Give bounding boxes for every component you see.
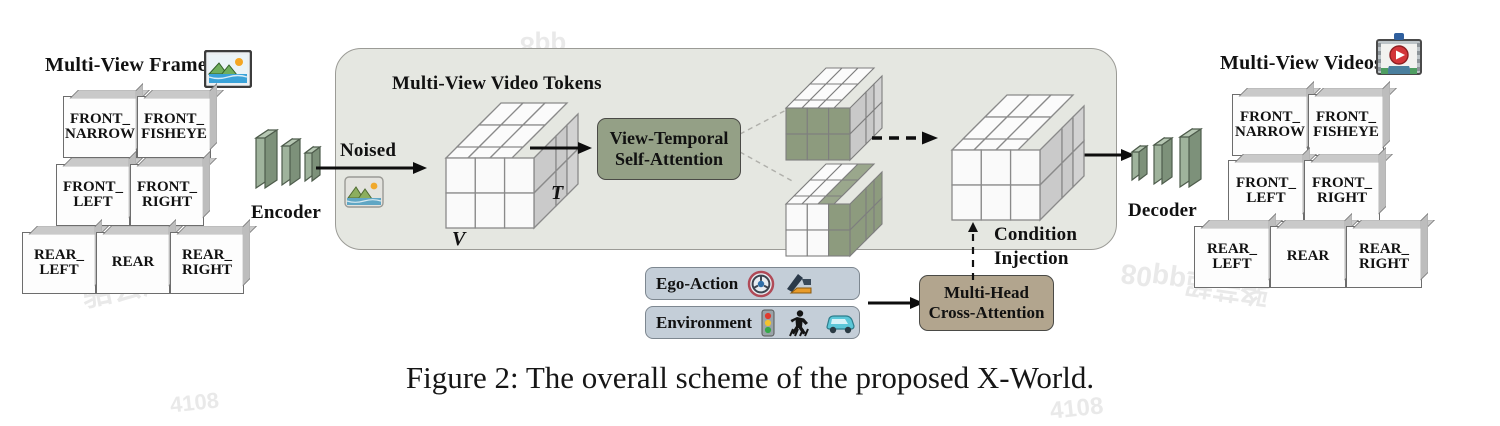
temporal-attention-cube [772, 158, 902, 263]
pedal-icon [784, 271, 814, 297]
condition-injection-label-line2: Injection [994, 248, 1069, 270]
view-label-line2: NARROW [65, 126, 135, 142]
view-label-line1: REAR [112, 255, 155, 270]
view-label-line1: REAR_ [1207, 241, 1257, 257]
condition-injection-arrow [964, 222, 982, 282]
decoder-label: Decoder [1128, 200, 1197, 222]
arrow-conditions-to-cross-attention [868, 295, 924, 311]
car-icon [823, 311, 857, 335]
axis-label-v: V [452, 228, 465, 251]
denoised-token-cube [930, 88, 1105, 233]
condition-injection-label-line1: Condition [994, 224, 1077, 246]
view-label-line1: FRONT_ [1240, 109, 1300, 125]
encoder-icon [250, 116, 340, 196]
cross-attention-line1: Multi-Head [944, 283, 1029, 303]
view-label-line2: LEFT [1246, 190, 1285, 206]
arrow-noised-to-tokens [318, 160, 428, 176]
token-cube [424, 96, 599, 236]
view-label-line2: LEFT [73, 194, 112, 210]
video-frame-icon [1376, 32, 1422, 78]
noised-label: Noised [340, 140, 396, 162]
view-label-line1: REAR [1287, 249, 1330, 264]
view-label-line2: RIGHT [142, 194, 192, 210]
steering-wheel-icon [747, 270, 775, 298]
view-label-line2: FISHEYE [1313, 124, 1379, 140]
output-panel-title: Multi-View Videos [1220, 52, 1382, 75]
view-label-line2: LEFT [1212, 256, 1251, 272]
view-label-line2: RIGHT [1317, 190, 1367, 206]
ego-action-label: Ego-Action [656, 274, 738, 294]
view-label-line2: FISHEYE [141, 126, 207, 142]
output-view-rear-right[interactable]: REAR_ RIGHT [1346, 226, 1422, 288]
output-view-front-fisheye[interactable]: FRONT_ FISHEYE [1308, 94, 1384, 156]
landscape-photo-icon [344, 176, 384, 208]
view-label-line1: REAR_ [182, 247, 232, 263]
self-attention-line2: Self-Attention [615, 149, 723, 170]
view-label-line2: LEFT [39, 262, 78, 278]
view-label-line1: FRONT_ [1236, 175, 1296, 191]
output-view-rear[interactable]: REAR [1270, 226, 1346, 288]
arrow-tokens-to-self-attention [530, 140, 592, 156]
view-attention-cube [772, 62, 902, 167]
view-label-line1: FRONT_ [144, 111, 204, 127]
view-label-line1: REAR_ [1359, 241, 1409, 257]
view-label-line1: FRONT_ [137, 179, 197, 195]
figure-caption: Figure 2: The overall scheme of the prop… [0, 360, 1500, 396]
traffic-light-icon [761, 309, 775, 337]
view-label-line1: FRONT_ [70, 111, 130, 127]
decoder-icon [1128, 112, 1218, 194]
input-view-rear-left[interactable]: REAR_ LEFT [22, 232, 96, 294]
multi-head-cross-attention-block[interactable]: Multi-Head Cross-Attention [919, 275, 1054, 331]
output-view-front-left[interactable]: FRONT_ LEFT [1228, 160, 1304, 222]
pipeline-title: Multi-View Video Tokens [392, 73, 602, 95]
view-label-line1: FRONT_ [1316, 109, 1376, 125]
condition-row-environment[interactable]: Environment [645, 306, 860, 339]
environment-label: Environment [656, 313, 752, 333]
pedestrian-crossing-icon [784, 309, 814, 337]
input-panel-title: Multi-View Frames [45, 54, 215, 77]
input-view-rear[interactable]: REAR [96, 232, 170, 294]
view-label-line1: FRONT_ [1312, 175, 1372, 191]
view-label-line2: RIGHT [1359, 256, 1409, 272]
view-label-line1: REAR_ [34, 247, 84, 263]
input-view-front-narrow[interactable]: FRONT_ NARROW [63, 96, 137, 158]
input-view-front-fisheye[interactable]: FRONT_ FISHEYE [137, 96, 211, 158]
view-label-line1: FRONT_ [63, 179, 123, 195]
view-temporal-self-attention-block[interactable]: View-Temporal Self-Attention [597, 118, 741, 180]
view-label-line2: NARROW [1235, 124, 1305, 140]
view-label-line2: RIGHT [182, 262, 232, 278]
framed-picture-icon [204, 50, 252, 88]
output-view-front-right[interactable]: FRONT_ RIGHT [1304, 160, 1380, 222]
input-view-front-left[interactable]: FRONT_ LEFT [56, 164, 130, 226]
cross-attention-line2: Cross-Attention [929, 303, 1045, 323]
input-view-front-right[interactable]: FRONT_ RIGHT [130, 164, 204, 226]
input-view-rear-right[interactable]: REAR_ RIGHT [170, 232, 244, 294]
condition-row-ego-action[interactable]: Ego-Action [645, 267, 860, 300]
encoder-label: Encoder [251, 202, 321, 224]
output-view-front-narrow[interactable]: FRONT_ NARROW [1232, 94, 1308, 156]
watermark: 4108 [1049, 392, 1105, 425]
axis-label-t: T [551, 182, 563, 205]
self-attention-line1: View-Temporal [610, 128, 729, 149]
output-view-rear-left[interactable]: REAR_ LEFT [1194, 226, 1270, 288]
